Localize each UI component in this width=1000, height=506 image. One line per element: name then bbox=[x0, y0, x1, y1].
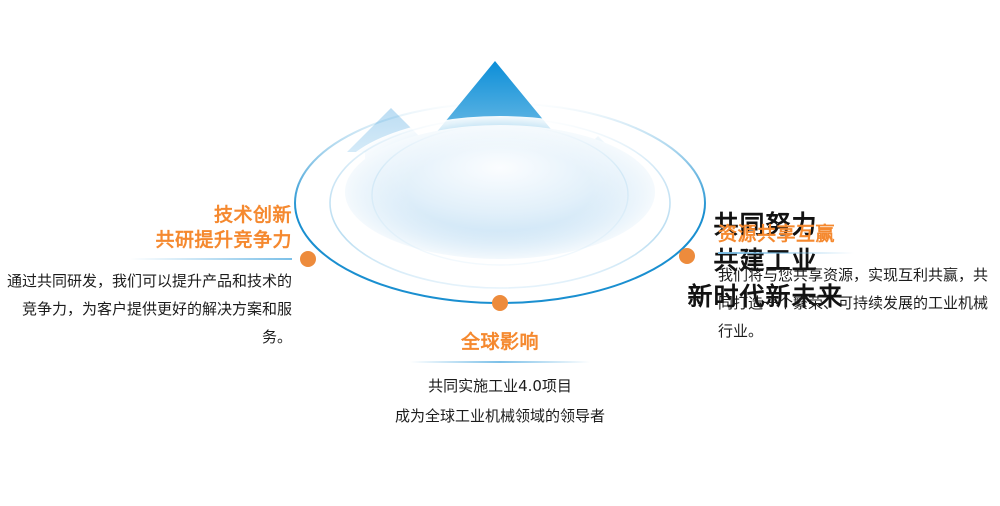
callout-right-divider bbox=[718, 252, 854, 254]
orbit-node-dot-icon bbox=[492, 295, 508, 311]
callout-left-divider bbox=[130, 258, 292, 260]
callout-left-heading: 技术创新 共研提升竞争力 bbox=[0, 203, 292, 253]
callout-left-body: 通过共同研发，我们可以提升产品和技术的竞争力，为客户提供更好的解决方案和服务。 bbox=[0, 267, 292, 351]
center-graphic: 共同努力 共建工业 新时代新未来 bbox=[265, 40, 735, 330]
callout-left-heading-line-1: 技术创新 bbox=[0, 203, 292, 228]
callout-bottom-body: 共同实施工业4.0项目 成为全球工业机械领域的领导者 bbox=[345, 371, 655, 431]
callout-left-heading-line-2: 共研提升竞争力 bbox=[0, 228, 292, 253]
callout-bottom-heading: 全球影响 bbox=[345, 330, 655, 355]
callout-right-body: 我们将与您共享资源，实现互利共赢，共同打造一个繁荣、可持续发展的工业机械行业。 bbox=[718, 261, 1000, 345]
callout-bottom-body-line-2: 成为全球工业机械领域的领导者 bbox=[345, 401, 655, 431]
callout-bottom-body-line-1: 共同实施工业4.0项目 bbox=[345, 371, 655, 401]
infographic-canvas: 共同努力 共建工业 新时代新未来 技术创新 共研提升竞争力 通过共同研发，我们可… bbox=[0, 0, 1000, 506]
callout-right: 资源共享互赢 我们将与您共享资源，实现互利共赢，共同打造一个繁荣、可持续发展的工… bbox=[718, 222, 1000, 345]
callout-bottom-divider bbox=[410, 361, 590, 363]
callout-bottom: 全球影响 共同实施工业4.0项目 成为全球工业机械领域的领导者 bbox=[345, 330, 655, 431]
callout-right-heading-line-1: 资源共享互赢 bbox=[718, 222, 1000, 247]
disc-halo bbox=[332, 116, 668, 264]
orbit-node-dot-icon bbox=[300, 251, 316, 267]
callout-bottom-heading-line-1: 全球影响 bbox=[345, 330, 655, 355]
callout-left: 技术创新 共研提升竞争力 通过共同研发，我们可以提升产品和技术的竞争力，为客户提… bbox=[0, 203, 292, 351]
callout-right-heading: 资源共享互赢 bbox=[718, 222, 1000, 247]
